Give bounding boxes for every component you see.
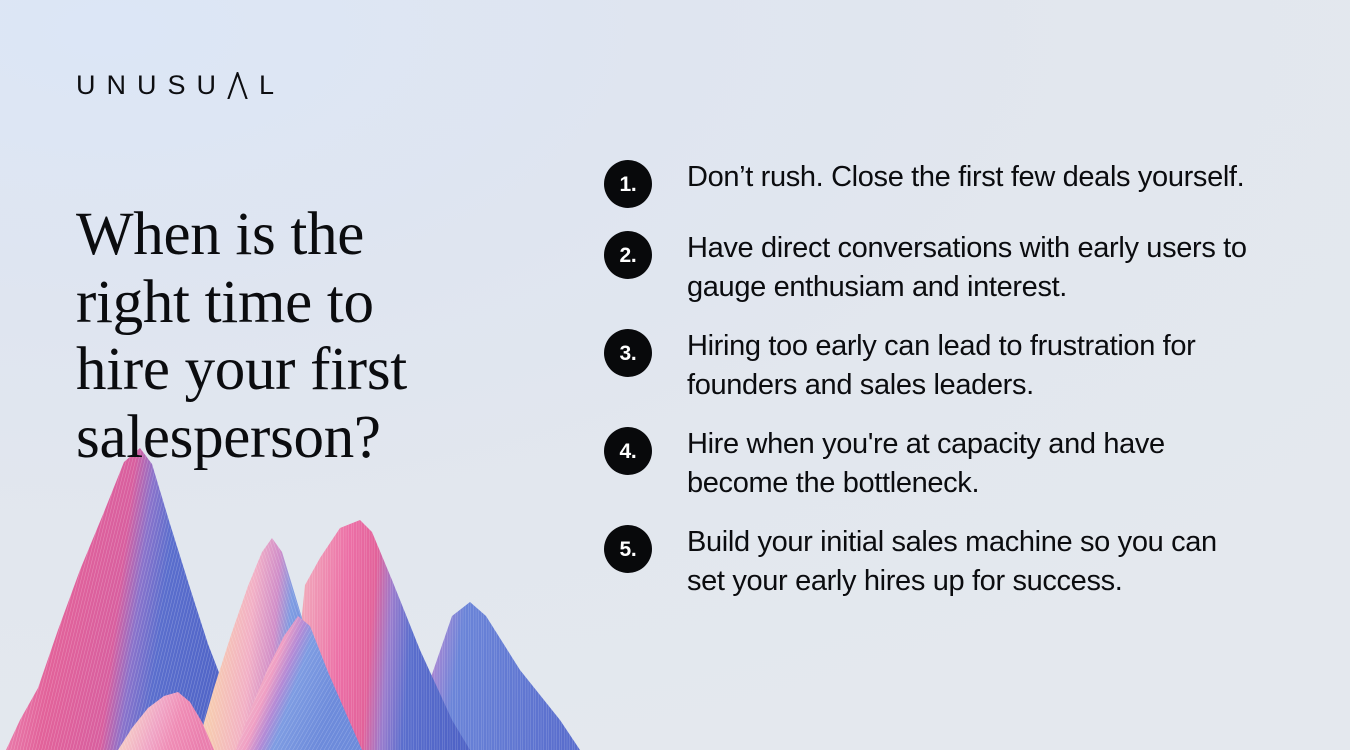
list-item-text: Have direct conversations with early use… [687,229,1250,306]
headline-line: right time to [76,269,374,336]
list-item-number-badge: 3. [604,329,652,377]
logo-letter: U [76,72,96,99]
mountain-peak-center [196,538,344,750]
list-item-text: Hiring too early can lead to frustration… [687,327,1250,404]
list-item-number-badge: 5. [604,525,652,573]
unusual-wordmark: U N U S U L [76,72,274,99]
logo-letter: L [259,72,274,99]
list-item-number-badge: 4. [604,427,652,475]
headline-line: hire your first [76,336,407,403]
logo-letter: U [137,72,157,99]
headline-line: salesperson? [76,404,381,471]
logo-letter-a-chevron-icon [227,72,248,99]
mountain-peak-left [6,448,252,750]
headline-line: When is the [76,201,364,268]
list-item: 2. Have direct conversations with early … [604,229,1250,306]
list-item: 3. Hiring too early can lead to frustrat… [604,327,1250,404]
list-item-number-badge: 1. [604,160,652,208]
logo-letter: N [107,72,127,99]
logo-letter: U [197,72,217,99]
mountain-foothill-left [118,692,214,750]
page-title: When is the right time to hire your firs… [76,201,546,472]
mountain-peak-right [406,602,580,750]
list-item: 5. Build your initial sales machine so y… [604,523,1250,600]
mountain-peak-center-right [288,520,470,750]
list-item-text: Build your initial sales machine so you … [687,523,1250,600]
list-item-number-badge: 2. [604,231,652,279]
takeaway-list: 1. Don’t rush. Close the first few deals… [604,158,1250,601]
logo-letter: S [168,72,186,99]
list-item: 4. Hire when you're at capacity and have… [604,425,1250,502]
list-item-text: Don’t rush. Close the first few deals yo… [687,158,1244,197]
mountain-ridge-front [236,616,362,750]
logo[interactable]: U N U S U L [76,68,274,102]
slide-canvas: U N U S U L When is the right time to hi… [0,0,1350,750]
list-item: 1. Don’t rush. Close the first few deals… [604,158,1250,208]
list-item-text: Hire when you're at capacity and have be… [687,425,1250,502]
